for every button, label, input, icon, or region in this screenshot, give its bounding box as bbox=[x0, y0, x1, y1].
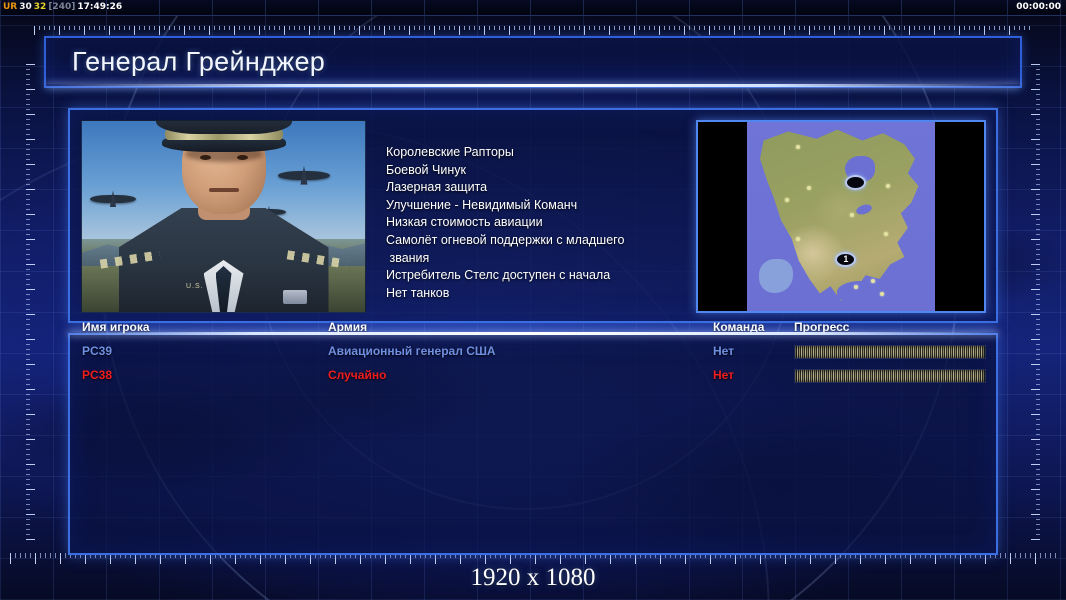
top-status-bar: UR 30 32 [240] 17:49:26 00:00:00 bbox=[0, 0, 1066, 16]
player-name: PC39 bbox=[82, 344, 112, 358]
player-name: PC38 bbox=[82, 368, 112, 382]
bonus-item: Низкая стоимость авиации bbox=[386, 214, 726, 232]
map-resource-dot bbox=[871, 279, 875, 283]
map-resource-dot bbox=[884, 232, 888, 236]
portrait-mouth bbox=[209, 188, 239, 192]
map-resource-dot bbox=[785, 198, 789, 202]
player-progress-bar bbox=[794, 345, 986, 359]
frame-ruler-top bbox=[34, 26, 1032, 35]
map-gulf bbox=[837, 281, 883, 303]
stat-ur: UR bbox=[2, 1, 18, 13]
general-info-panel: U.S. Королевские Рапторы Боевой Чинук Ла… bbox=[68, 108, 998, 323]
bonus-item: Боевой Чинук bbox=[386, 162, 726, 180]
map-resource-dot bbox=[880, 292, 884, 296]
bonus-item: Истребитель Стелс доступен с начала bbox=[386, 267, 726, 285]
page-title: Генерал Грейнджер bbox=[72, 47, 325, 78]
performance-stats: UR 30 32 [240] 17:49:26 bbox=[2, 1, 123, 13]
resolution-label: 1920 x 1080 bbox=[0, 564, 1066, 592]
title-panel: Генерал Грейнджер bbox=[44, 36, 1022, 88]
aircraft-icon bbox=[278, 171, 330, 180]
game-timer: 00:00:00 bbox=[1016, 1, 1061, 13]
player-team: Нет bbox=[713, 368, 734, 382]
player-army: Случайно bbox=[328, 368, 386, 382]
player-progress-bar bbox=[794, 369, 986, 383]
map-start-position bbox=[845, 175, 866, 190]
aircraft-icon bbox=[90, 195, 136, 203]
bonus-item: Улучшение - Невидимый Команч bbox=[386, 197, 726, 215]
map-resource-dot bbox=[796, 145, 800, 149]
frame-ruler-right bbox=[1031, 60, 1040, 540]
us-insignia: U.S. bbox=[186, 283, 204, 290]
stat-fps: 30 bbox=[18, 1, 33, 13]
map-preview: 1 bbox=[696, 120, 986, 313]
players-panel: Имя игрока Армия Команда Прогресс PC39 А… bbox=[68, 333, 998, 555]
ribbon-bar bbox=[283, 290, 307, 304]
map-image: 1 bbox=[747, 122, 935, 311]
bonus-item: Лазерная защита bbox=[386, 179, 726, 197]
bonus-item: звания bbox=[386, 250, 726, 268]
stat-bracket: [240] bbox=[47, 1, 76, 13]
stat-secondary: 32 bbox=[33, 1, 48, 13]
player-team: Нет bbox=[713, 344, 734, 358]
map-resource-dot bbox=[854, 285, 858, 289]
bonus-item: Нет танков bbox=[386, 285, 726, 303]
frame-ruler-left bbox=[26, 60, 35, 540]
bonus-item: Королевские Рапторы bbox=[386, 144, 726, 162]
generals-loading-screen: UR 30 32 [240] 17:49:26 00:00:00 Генерал… bbox=[0, 0, 1066, 600]
general-bonus-list: Королевские Рапторы Боевой Чинук Лазерна… bbox=[386, 144, 726, 302]
general-portrait: U.S. bbox=[81, 120, 366, 313]
system-clock: 17:49:26 bbox=[76, 1, 123, 13]
map-island bbox=[759, 259, 793, 293]
table-row: PC38 Случайно Нет bbox=[70, 365, 996, 389]
player-army: Авиационный генерал США bbox=[328, 344, 496, 358]
players-header-divider bbox=[68, 332, 998, 335]
cap-crown bbox=[156, 120, 292, 134]
table-row: PC39 Авиационный генерал США Нет bbox=[70, 341, 996, 365]
bonus-item: Самолёт огневой поддержки с младшего bbox=[386, 232, 726, 250]
title-underline bbox=[46, 84, 1020, 87]
topbar-grid bbox=[0, 0, 1066, 15]
